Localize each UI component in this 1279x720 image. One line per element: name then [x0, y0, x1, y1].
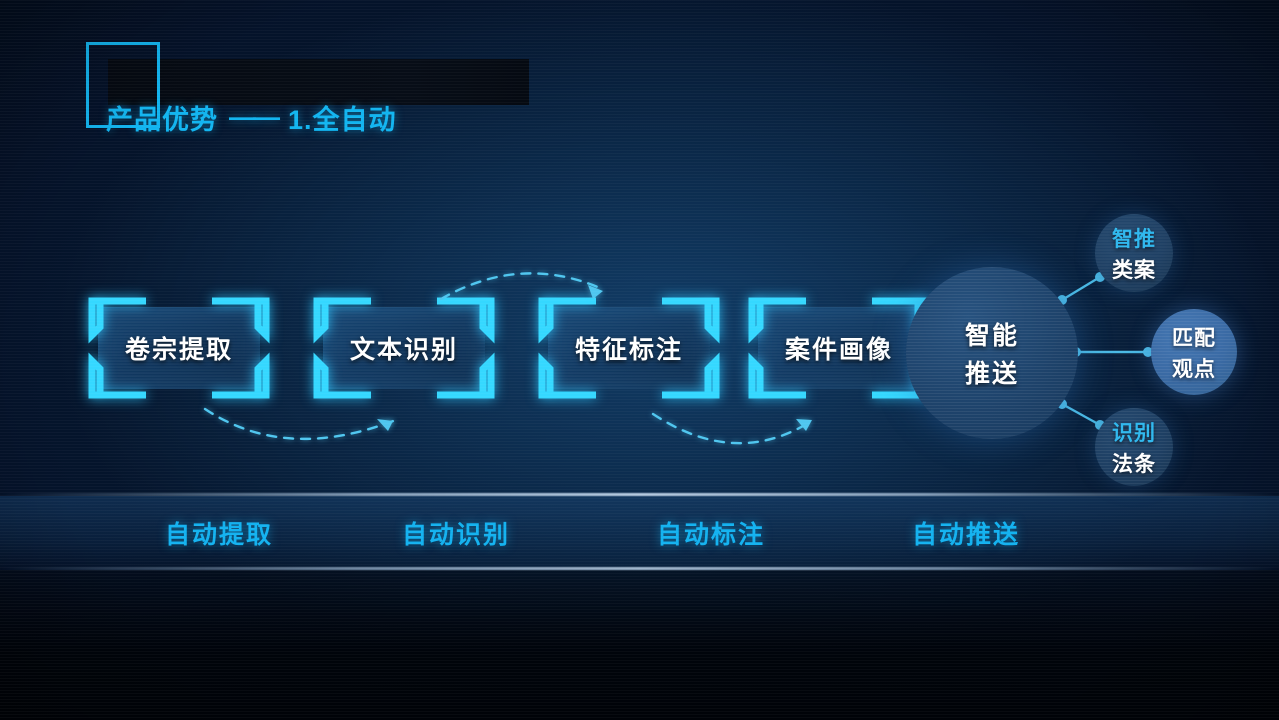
satellite-identify-statutes[interactable]: 识别 法条: [1095, 408, 1173, 486]
satellite-3-line1: 识别: [1112, 417, 1156, 447]
slide-canvas: 产品优势 —— 1.全自动 卷宗提取 文本识别: [0, 0, 1279, 720]
flow-arrow-1-to-2: [205, 409, 393, 439]
satellite-3-line2: 法条: [1112, 448, 1156, 478]
flow-arrow-3-to-4: [653, 414, 812, 443]
title-sub-text: 1.全自动: [288, 98, 397, 137]
hub-label-line2: 推送: [965, 354, 1019, 390]
corner-bracket-frame-icon: [88, 297, 270, 399]
satellite-1-line1: 智推: [1112, 223, 1156, 253]
satellite-2-line2: 观点: [1172, 353, 1216, 383]
corner-bracket-frame-icon: [748, 297, 930, 399]
caption-auto-push: 自动推送: [912, 515, 1020, 551]
caption-auto-annotate: 自动标注: [657, 515, 765, 551]
hub-label: 智能 推送: [906, 267, 1078, 439]
hub-label-line1: 智能: [965, 316, 1019, 352]
corner-bracket-frame-icon: [538, 297, 720, 399]
flow-arrow-2-to-3: [441, 273, 603, 299]
flow-step-3[interactable]: 特征标注: [538, 297, 720, 399]
satellite-1-line2: 类案: [1112, 254, 1156, 284]
hub-node-intelligent-push[interactable]: 智能 推送: [906, 267, 1078, 439]
caption-auto-recognize: 自动识别: [402, 515, 510, 551]
title-main-text: 产品优势: [106, 98, 218, 137]
horizontal-divider-upper: [0, 493, 1279, 496]
page-title: 产品优势 —— 1.全自动: [106, 97, 536, 137]
floor-shadow: [0, 570, 1279, 720]
satellite-matching-viewpoints[interactable]: 匹配 观点: [1151, 309, 1237, 395]
flow-step-1[interactable]: 卷宗提取: [88, 297, 270, 399]
flow-step-2[interactable]: 文本识别: [313, 297, 495, 399]
horizontal-divider-lower: [0, 567, 1279, 570]
satellite-similar-cases[interactable]: 智推 类案: [1095, 214, 1173, 292]
slide-title-block: 产品优势 —— 1.全自动: [86, 42, 466, 128]
flow-step-4[interactable]: 案件画像: [748, 297, 930, 399]
satellite-2-line1: 匹配: [1172, 322, 1216, 352]
title-dash-icon: ——: [229, 102, 277, 133]
corner-bracket-frame-icon: [313, 297, 495, 399]
caption-auto-extract: 自动提取: [165, 515, 273, 551]
